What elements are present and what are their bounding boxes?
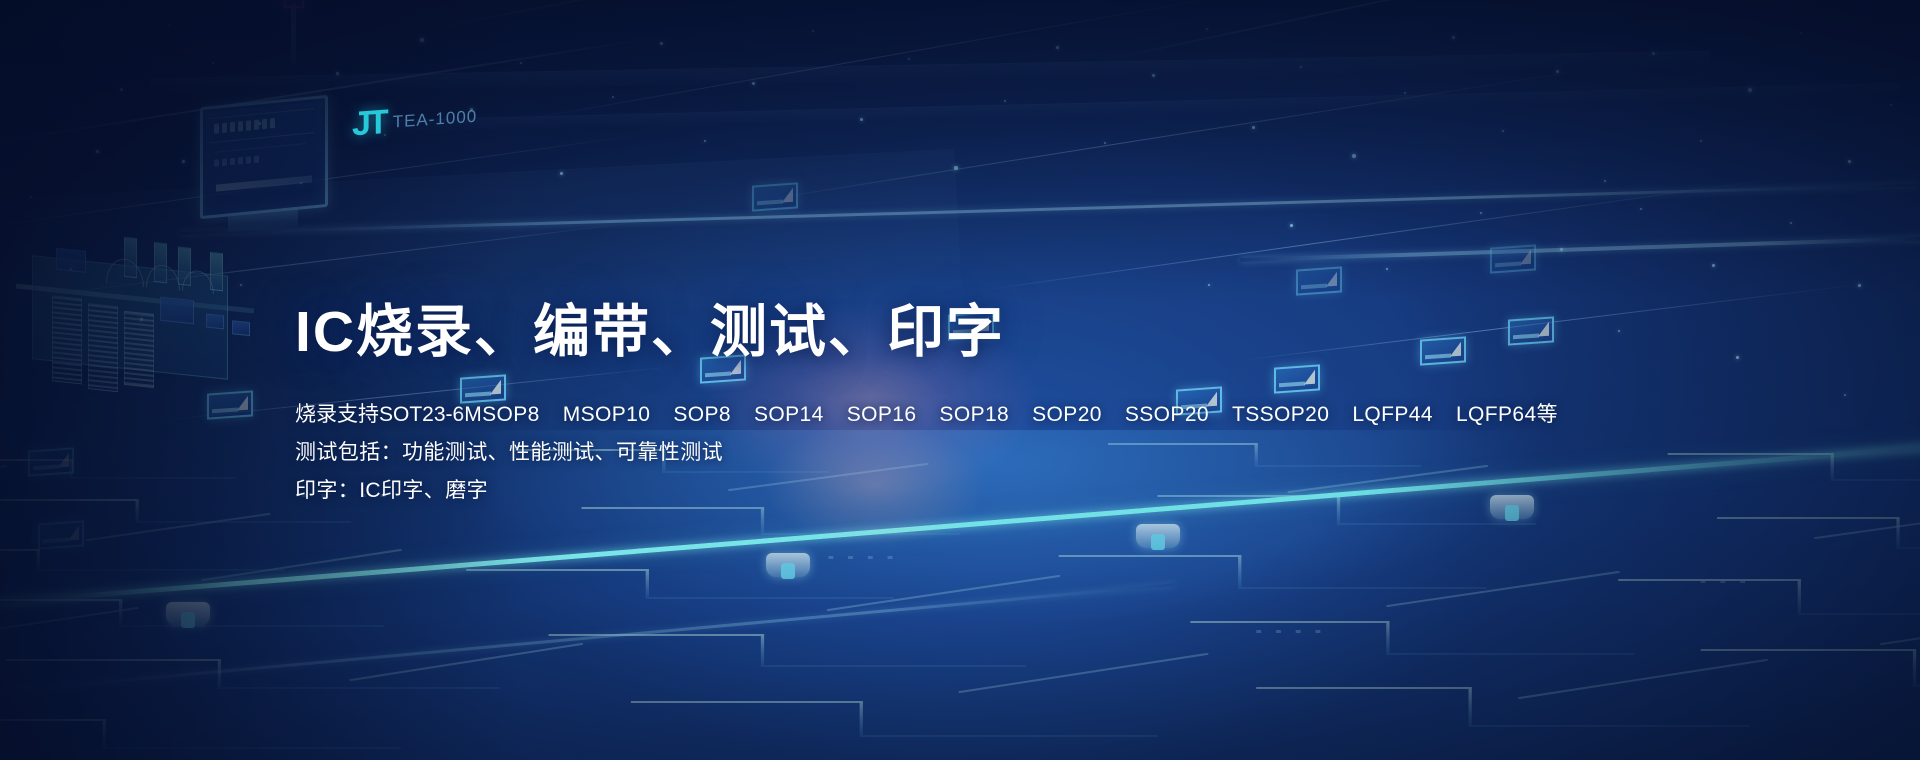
package-item: SOP16: [847, 396, 917, 434]
page-title: IC烧录、编带、测试、印字: [295, 300, 1595, 366]
brand-logo-mark: JT: [352, 103, 386, 144]
package-item: MSOP10: [563, 396, 651, 434]
burn-support-line: 烧录支持SOT23-6MSOP8MSOP10SOP8SOP14SOP16SOP1…: [295, 396, 1595, 434]
banner-content: IC烧录、编带、测试、印字 烧录支持SOT23-6MSOP8MSOP10SOP8…: [295, 300, 1595, 510]
package-item: LQFP64等: [1456, 396, 1558, 434]
brand-model-label: TEA-1000: [393, 106, 478, 132]
service-detail-list: 烧录支持SOT23-6MSOP8MSOP10SOP8SOP14SOP16SOP1…: [295, 396, 1595, 510]
package-item: SOP14: [754, 396, 824, 434]
marking-scope-line: 印字：IC印字、磨字: [295, 472, 1595, 510]
package-item: SOP18: [939, 396, 1009, 434]
package-list: MSOP8MSOP10SOP8SOP14SOP16SOP18SOP20SSOP2…: [464, 403, 1558, 426]
package-item: SOP8: [673, 396, 731, 434]
burn-support-prefix: 烧录支持SOT23-6: [295, 396, 464, 434]
package-item: MSOP8: [464, 396, 540, 434]
package-item: TSSOP20: [1232, 396, 1329, 434]
package-item: SOP20: [1032, 396, 1102, 434]
package-item: LQFP44: [1352, 396, 1433, 434]
package-item: SSOP20: [1125, 396, 1209, 434]
test-scope-line: 测试包括：功能测试、性能测试、可靠性测试: [295, 434, 1595, 472]
ic-service-banner: JT TEA-1000 IC烧录、编带、测试、印字 烧录支持SOT23-6MSO…: [0, 0, 1920, 760]
